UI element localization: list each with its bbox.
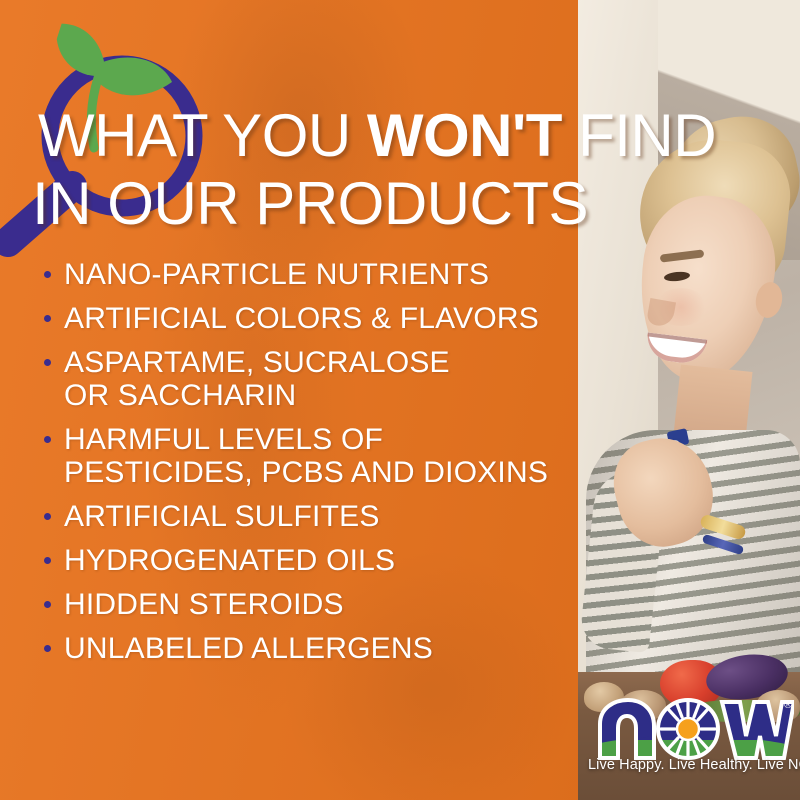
list-item: HIDDEN STEROIDS <box>40 588 570 621</box>
headline-line-1: WHAT YOU WON'T FIND <box>0 102 700 170</box>
logo-tagline: Live Happy. Live Healthy. Live NOW. <box>588 757 794 773</box>
list-item: UNLABELED ALLERGENS <box>40 632 570 665</box>
list-item-label: ASPARTAME, SUCRALOSE <box>64 346 450 379</box>
list-item-label: NANO-PARTICLE NUTRIENTS <box>64 258 489 291</box>
registered-trademark-icon: ® <box>784 699 792 711</box>
list-item-label: UNLABELED ALLERGENS <box>64 632 433 665</box>
list-item-label: HYDROGENATED OILS <box>64 544 395 577</box>
poster-canvas: WHAT YOU WON'T FIND IN OUR PRODUCTS NANO… <box>0 0 800 800</box>
list-item: NANO-PARTICLE NUTRIENTS <box>40 258 570 291</box>
exclusion-list: NANO-PARTICLE NUTRIENTS ARTIFICIAL COLOR… <box>40 258 570 676</box>
list-item: ASPARTAME, SUCRALOSE OR SACCHARIN <box>40 346 570 412</box>
list-item-label: HARMFUL LEVELS OF <box>64 423 383 456</box>
list-item-label: ARTIFICIAL SULFITES <box>64 500 380 533</box>
sunburst-icon <box>661 702 715 756</box>
now-brand-logo: ® <box>588 696 794 792</box>
list-item: ARTIFICIAL SULFITES <box>40 500 570 533</box>
list-item: HYDROGENATED OILS <box>40 544 570 577</box>
list-item-label-line2: OR SACCHARIN <box>64 379 570 412</box>
list-item-label: HIDDEN STEROIDS <box>64 588 344 621</box>
headline-text-find: FIND <box>562 102 716 169</box>
headline-line-2: IN OUR PRODUCTS <box>0 170 700 238</box>
headline-text-what-you: WHAT YOU <box>38 102 367 169</box>
list-item: HARMFUL LEVELS OF PESTICIDES, PCBS AND D… <box>40 423 570 489</box>
list-item-label-line2: PESTICIDES, PCBS AND DIOXINS <box>64 456 570 489</box>
headline: WHAT YOU WON'T FIND IN OUR PRODUCTS <box>0 102 700 238</box>
sunburst-core <box>677 718 699 740</box>
headline-emphasis-wont: WON'T <box>367 102 562 169</box>
list-item-label: ARTIFICIAL COLORS & FLAVORS <box>64 302 539 335</box>
list-item: ARTIFICIAL COLORS & FLAVORS <box>40 302 570 335</box>
